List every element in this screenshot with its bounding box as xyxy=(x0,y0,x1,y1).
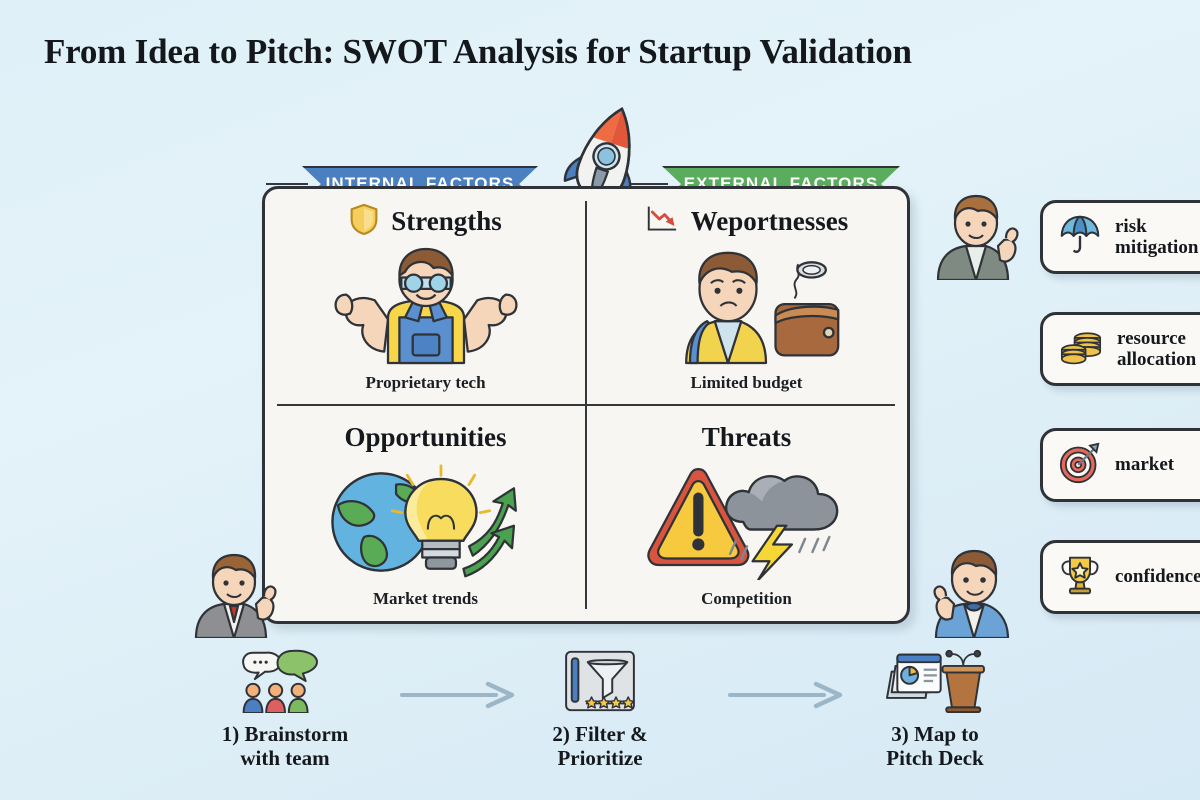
quadrant-weaknesses-header: Weportnesses xyxy=(645,203,849,239)
swot-matrix-board: Strengths xyxy=(262,186,910,624)
workflow-step-map-to-pitch-deck-label: 3) Map to Pitch Deck xyxy=(886,722,983,771)
quadrant-opportunities-title: Opportunities xyxy=(344,422,506,453)
quadrant-threats[interactable]: Threats xyxy=(586,405,907,621)
quadrant-threats-header: Threats xyxy=(702,419,792,455)
side-card-risk-mitigation-label: risk mitigation xyxy=(1115,216,1198,259)
thumbs-up-businessman-bottom-right xyxy=(920,546,1030,638)
target-dart-icon xyxy=(1059,442,1101,489)
slides-podium-icon xyxy=(883,648,987,714)
quadrant-strengths-caption: Proprietary tech xyxy=(365,373,485,405)
thumbs-up-person-top-right xyxy=(928,192,1028,280)
side-card-market-label: market xyxy=(1115,454,1174,475)
thumbs-up-businessman-left xyxy=(182,552,286,638)
quadrant-weaknesses-title: Weportnesses xyxy=(691,206,849,237)
ribbon-connector-left xyxy=(266,183,308,185)
workflow-step-map-to-pitch-deck[interactable]: 3) Map to Pitch Deck xyxy=(830,648,1040,771)
flexing-person-illustration xyxy=(265,239,586,373)
sad-person-empty-wallet-illustration xyxy=(586,239,907,373)
side-card-confidence[interactable]: confidence xyxy=(1040,540,1200,614)
globe-lightbulb-growth-arrows-illustration xyxy=(265,455,586,589)
shield-icon xyxy=(349,202,379,241)
trophy-icon xyxy=(1059,554,1101,601)
side-card-risk-mitigation[interactable]: risk mitigation xyxy=(1040,200,1200,274)
quadrant-opportunities-caption: Market trends xyxy=(373,589,478,621)
side-card-market[interactable]: market xyxy=(1040,428,1200,502)
quadrant-strengths-header: Strengths xyxy=(349,203,502,239)
quadrant-threats-title: Threats xyxy=(702,422,792,453)
quadrant-opportunities[interactable]: Opportunities xyxy=(265,405,586,621)
side-card-resource-allocation-label: resource allocation xyxy=(1117,328,1196,371)
declining-chart-icon xyxy=(645,204,679,239)
quadrant-threats-caption: Competition xyxy=(701,589,792,621)
side-card-resource-allocation[interactable]: resource allocation xyxy=(1040,312,1200,386)
quadrant-weaknesses[interactable]: Weportnesses xyxy=(586,189,907,405)
workflow-step-filter-prioritize-label: 2) Filter & Prioritize xyxy=(552,722,647,771)
workflow-step-filter-prioritize[interactable]: 2) Filter & Prioritize xyxy=(495,648,705,771)
workflow-step-brainstorm[interactable]: 1) Brainstorm with team xyxy=(180,648,390,771)
funnel-rating-icon xyxy=(563,648,637,714)
quadrant-weaknesses-caption: Limited budget xyxy=(691,373,803,405)
team-speech-bubbles-icon xyxy=(239,648,331,714)
quadrant-strengths[interactable]: Strengths xyxy=(265,189,586,405)
workflow-step-brainstorm-label: 1) Brainstorm with team xyxy=(222,722,349,771)
quadrant-strengths-title: Strengths xyxy=(391,206,502,237)
umbrella-icon xyxy=(1059,214,1101,261)
page-title: From Idea to Pitch: SWOT Analysis for St… xyxy=(44,32,1164,72)
side-card-confidence-label: confidence xyxy=(1115,566,1200,587)
quadrant-opportunities-header: Opportunities xyxy=(344,419,506,455)
warning-storm-cloud-illustration xyxy=(586,455,907,589)
coins-icon xyxy=(1059,326,1103,373)
workflow-steps: 1) Brainstorm with team xyxy=(150,640,1070,790)
